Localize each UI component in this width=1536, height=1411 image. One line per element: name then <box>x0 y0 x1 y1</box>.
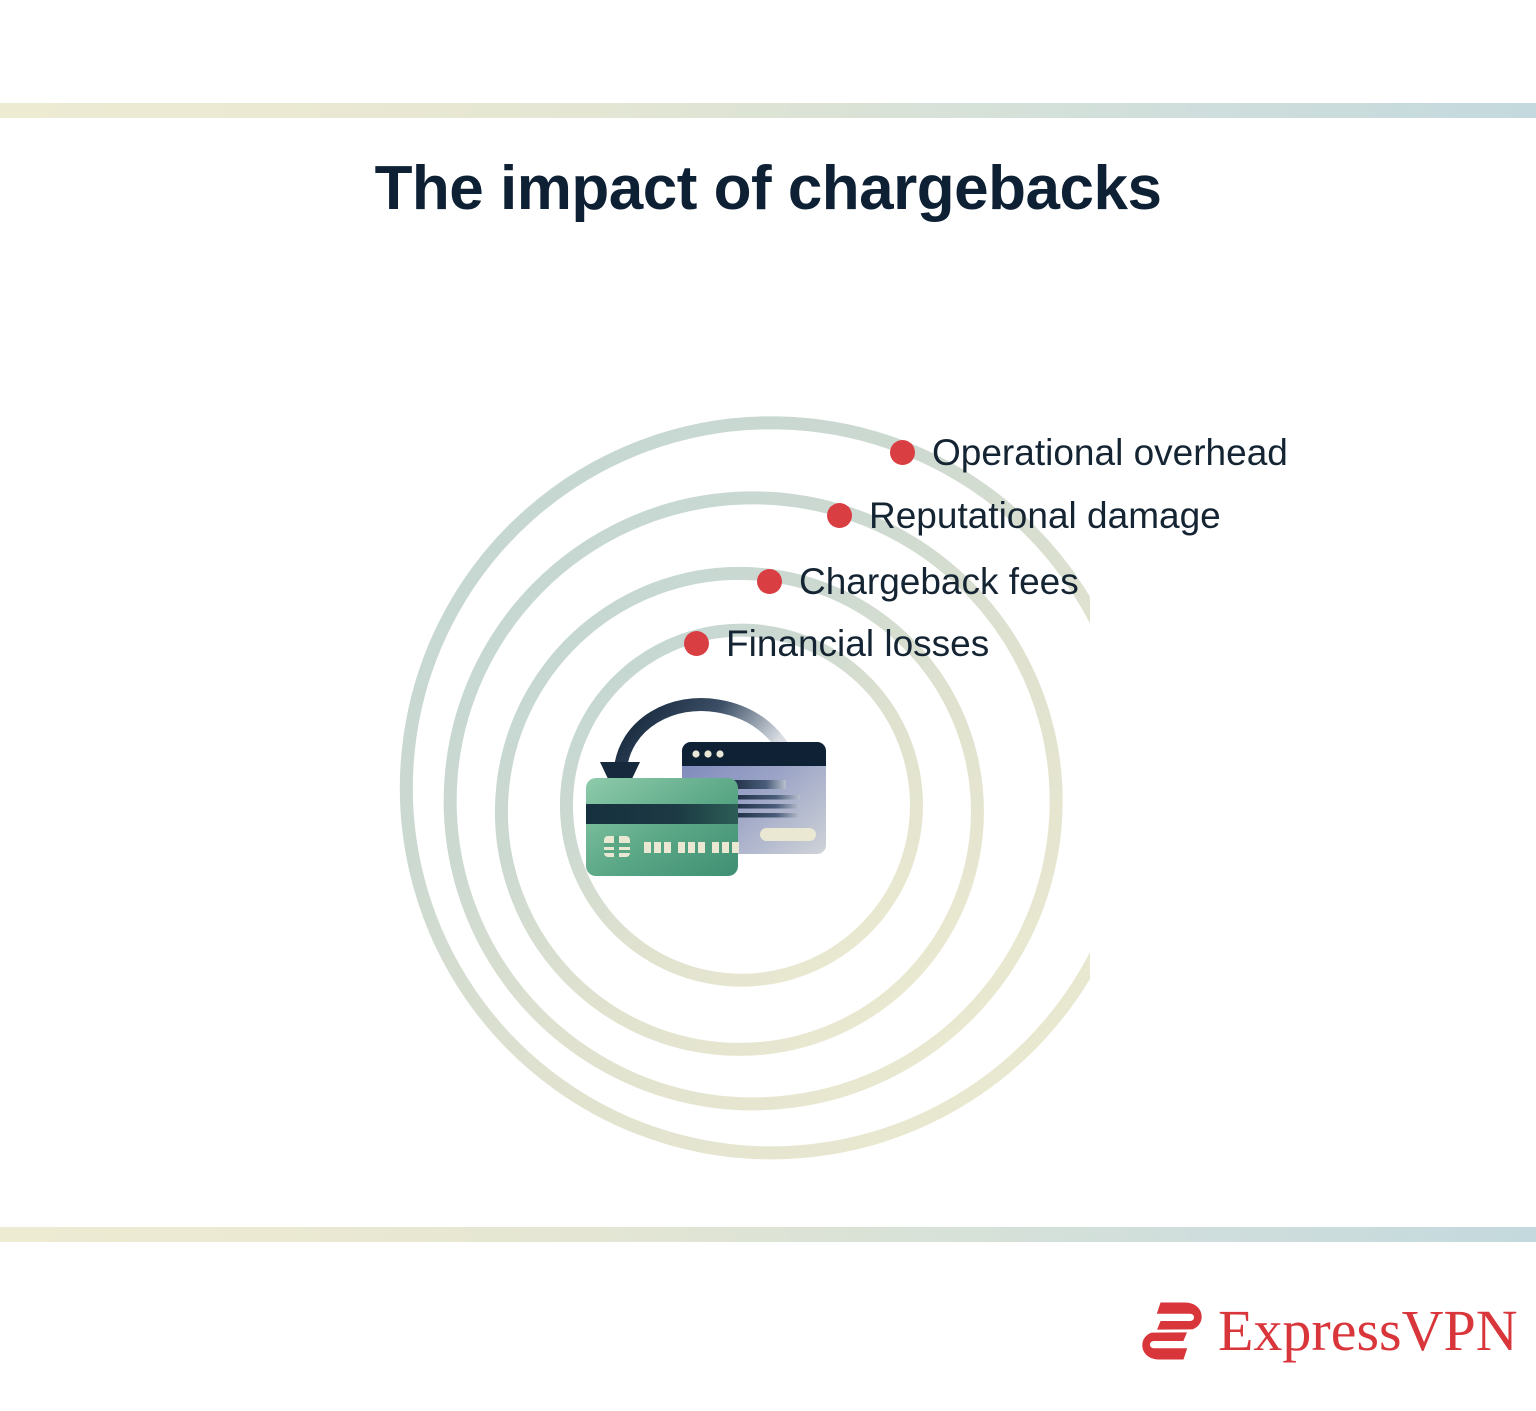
list-item-label: Financial losses <box>726 625 989 662</box>
expressvpn-wordmark: ExpressVPN <box>1218 1302 1518 1360</box>
list-item-financial-losses[interactable]: Financial losses <box>684 625 989 662</box>
page-title: The impact of chargebacks <box>0 153 1536 224</box>
marker-dot-icon <box>757 569 782 594</box>
chargeback-card-icon <box>586 704 826 876</box>
marker-dot-icon <box>684 631 709 656</box>
emv-chip <box>604 836 630 857</box>
list-item-operational-overhead[interactable]: Operational overhead <box>890 434 1288 471</box>
list-item-reputational-damage[interactable]: Reputational damage <box>827 497 1221 534</box>
list-item-label: Operational overhead <box>932 434 1288 471</box>
credit-card <box>586 778 739 876</box>
top-gradient-rule <box>0 103 1536 118</box>
list-item-label: Reputational damage <box>869 497 1221 534</box>
expressvpn-logo[interactable]: ExpressVPN <box>1140 1300 1518 1362</box>
list-item-chargeback-fees[interactable]: Chargeback fees <box>757 563 1079 600</box>
marker-dot-icon <box>890 440 915 465</box>
infographic-page: The impact of chargebacks <box>0 0 1536 1411</box>
list-item-label: Chargeback fees <box>799 563 1079 600</box>
marker-dot-icon <box>827 503 852 528</box>
card-number-blocks <box>644 842 739 853</box>
expressvpn-mark-icon <box>1140 1300 1204 1362</box>
bottom-gradient-rule <box>0 1227 1536 1242</box>
